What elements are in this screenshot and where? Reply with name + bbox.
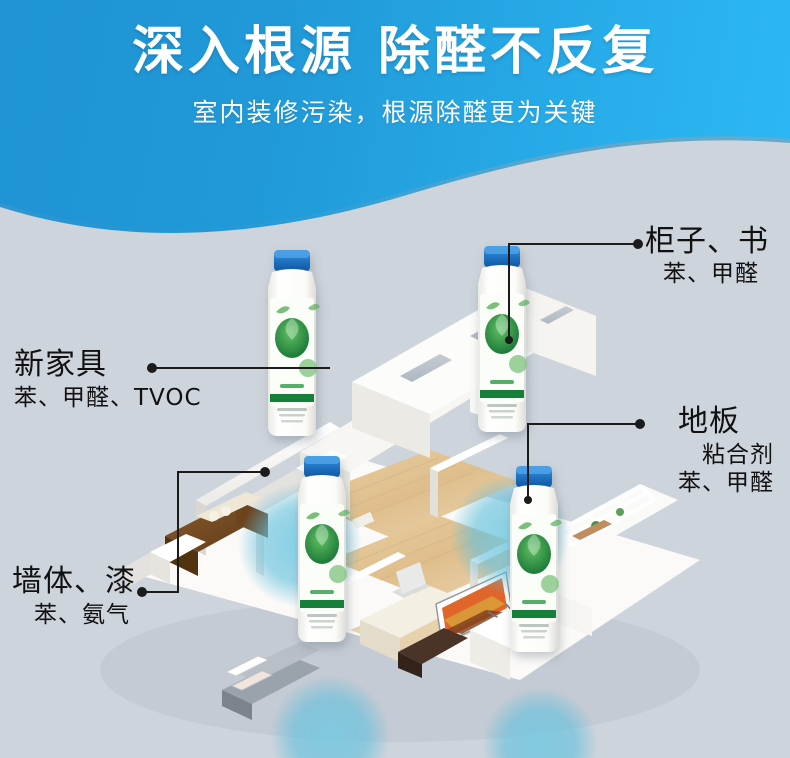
callout-cabinet-pollutants: 苯、甲醛 [645,262,769,288]
product-bottle [268,250,320,436]
callout-floor: 地板 粘合剂 苯、甲醛 [678,405,780,497]
promo-page: 深入根源 除醛不反复 室内装修污染，根源除醛更为关键 [0,0,790,758]
callout-floor-title: 地板 [678,405,780,439]
product-bottle [298,456,350,642]
callout-furniture-pollutants: 苯、甲醛、TVOC [14,386,202,412]
page-title: 深入根源 除醛不反复 [0,24,790,81]
callout-wall-title: 墙体、漆 [12,565,136,599]
callout-floor-details: 粘合剂 苯、甲醛 [678,443,780,498]
callout-wall-pollutants: 苯、氨气 [12,603,136,629]
callout-cabinet: 柜子、书 苯、甲醛 [645,225,769,287]
callout-furniture: 新家具 苯、甲醛、TVOC [14,348,202,411]
callout-furniture-title: 新家具 [14,348,202,382]
callout-floor-source: 粘合剂 [678,443,774,469]
callout-floor-pollutants: 苯、甲醛 [678,471,774,497]
product-bottle [478,246,530,432]
callout-cabinet-title: 柜子、书 [645,225,769,259]
callout-wall: 墙体、漆 苯、氨气 [12,565,136,628]
page-subtitle: 室内装修污染，根源除醛更为关键 [0,93,790,129]
product-bottle [510,466,562,652]
header-text-block: 深入根源 除醛不反复 室内装修污染，根源除醛更为关键 [0,0,790,129]
